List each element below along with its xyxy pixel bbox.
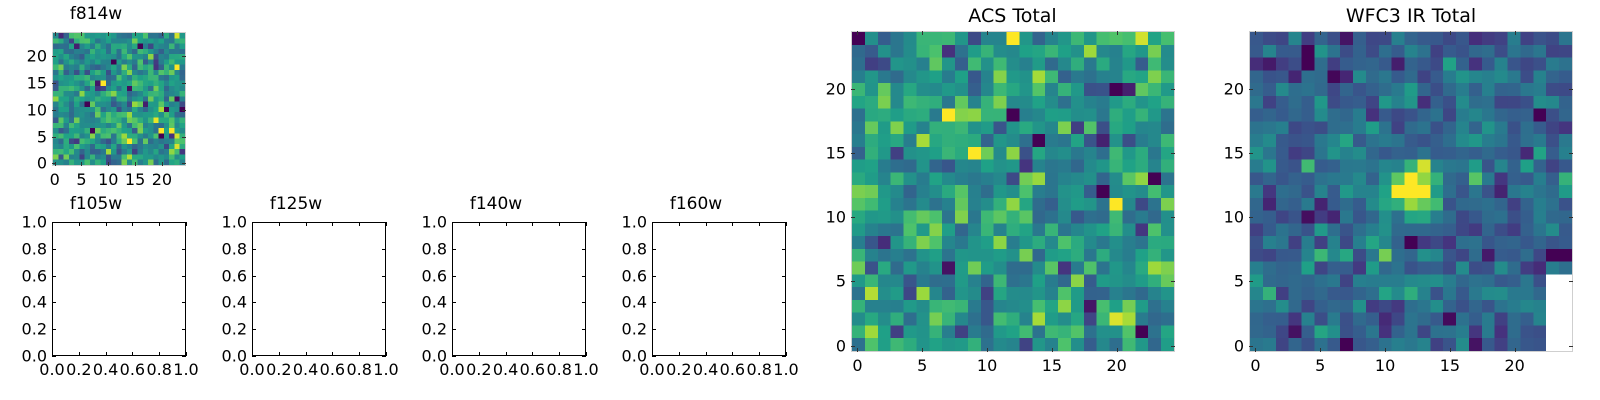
ytick-mark (182, 56, 186, 57)
xtick-label: 15 (1440, 356, 1460, 375)
xtick-mark (586, 352, 587, 356)
ytick-mark (52, 137, 56, 138)
xtick-mark (1515, 31, 1516, 35)
ytick-label: 0.6 (600, 266, 647, 285)
xtick-mark (1117, 31, 1118, 35)
ytick-mark (1249, 153, 1253, 154)
xtick-label: 0.4 (293, 360, 318, 379)
panel-f814w: f814w 05101520 05101520 (0, 0, 200, 190)
ytick-mark (851, 281, 855, 282)
ytick-label: 15 (1198, 143, 1244, 162)
xtick-mark (135, 32, 136, 36)
xtick-label: 10 (1375, 356, 1395, 375)
xtick-mark (1052, 348, 1053, 352)
ytick-label: 5 (800, 272, 846, 291)
xtick-mark (1515, 348, 1516, 352)
xtick-mark (679, 222, 680, 226)
ytick-mark (52, 302, 56, 303)
xtick-label: 0.2 (266, 360, 291, 379)
xtick-mark (55, 32, 56, 36)
ytick-label: 10 (800, 208, 846, 227)
xtick-mark (108, 162, 109, 166)
ytick-mark (52, 56, 56, 57)
ytick-mark (782, 302, 786, 303)
xtick-label: 0.4 (93, 360, 118, 379)
heatmap-wfc3-ir-total (1250, 32, 1572, 351)
ytick-mark (851, 346, 855, 347)
ytick-mark (1171, 89, 1175, 90)
xtick-mark (186, 222, 187, 226)
ytick-label: 10 (0, 100, 47, 119)
xtick-mark (586, 222, 587, 226)
xtick-mark (532, 352, 533, 356)
ytick-label: 0.6 (400, 266, 447, 285)
ytick-mark (582, 276, 586, 277)
xtick-mark (81, 162, 82, 166)
panel-f140w: f140w 0.00.20.40.60.81.0 0.00.20.40.60.8… (400, 190, 600, 400)
ytick-mark (382, 356, 386, 357)
ytick-mark (1171, 153, 1175, 154)
ytick-mark (452, 356, 456, 357)
xtick-mark (652, 222, 653, 226)
ytick-label: 0.2 (200, 320, 247, 339)
xtick-label: 0.2 (666, 360, 691, 379)
xtick-mark (359, 352, 360, 356)
xtick-label: 15 (1042, 356, 1062, 375)
xtick-label: 20 (1504, 356, 1524, 375)
axes-f140w[interactable] (452, 222, 586, 356)
ytick-label: 0 (0, 154, 47, 173)
xtick-mark (108, 32, 109, 36)
xtick-mark (759, 352, 760, 356)
xtick-mark (1385, 31, 1386, 35)
ytick-label: 0.8 (0, 239, 47, 258)
ytick-mark (252, 302, 256, 303)
xtick-mark (786, 222, 787, 226)
ytick-mark (182, 356, 186, 357)
ytick-mark (1569, 217, 1573, 218)
xtick-mark (1320, 348, 1321, 352)
ytick-mark (52, 276, 56, 277)
xtick-label: 10 (977, 356, 997, 375)
xtick-mark (706, 352, 707, 356)
xtick-mark (1450, 31, 1451, 35)
xtick-mark (386, 222, 387, 226)
ytick-mark (582, 249, 586, 250)
ytick-label: 15 (800, 143, 846, 162)
ytick-mark (182, 110, 186, 111)
xtick-mark (922, 348, 923, 352)
xtick-label: 0.8 (146, 360, 171, 379)
ytick-label: 0.4 (0, 293, 47, 312)
xtick-label: 0.6 (120, 360, 145, 379)
ytick-label: 0.6 (0, 266, 47, 285)
ytick-label: 0.8 (200, 239, 247, 258)
panel-acs-total: ACS Total 05101520 05101520 (800, 0, 1190, 400)
xtick-mark (79, 352, 80, 356)
ytick-mark (182, 137, 186, 138)
heatmap-f814w (53, 33, 185, 165)
xtick-label: 0.0 (239, 360, 264, 379)
ytick-mark (851, 89, 855, 90)
xtick-mark (679, 352, 680, 356)
ytick-mark (52, 83, 56, 84)
xtick-mark (332, 222, 333, 226)
ytick-label: 0.4 (200, 293, 247, 312)
ytick-mark (1249, 89, 1253, 90)
panel-title-acs-total: ACS Total (850, 5, 1175, 27)
ytick-mark (182, 276, 186, 277)
xtick-mark (922, 31, 923, 35)
xtick-mark (252, 222, 253, 226)
panel-title-f160w: f160w (596, 194, 796, 214)
xtick-mark (1117, 348, 1118, 352)
xtick-label: 1.0 (173, 360, 198, 379)
ytick-mark (1569, 346, 1573, 347)
heatmap-acs-total (852, 32, 1174, 351)
ytick-mark (452, 249, 456, 250)
ytick-mark (382, 276, 386, 277)
xtick-label: 0.0 (639, 360, 664, 379)
xtick-label: 20 (152, 170, 172, 189)
panel-title-f140w: f140w (396, 194, 596, 214)
ytick-mark (452, 302, 456, 303)
xtick-mark (55, 162, 56, 166)
ytick-mark (782, 249, 786, 250)
xtick-label: 0.8 (346, 360, 371, 379)
ytick-mark (652, 329, 656, 330)
xtick-mark (1450, 348, 1451, 352)
xtick-mark (306, 352, 307, 356)
xtick-mark (135, 162, 136, 166)
xtick-label: 0.8 (746, 360, 771, 379)
ytick-label: 0.8 (600, 239, 647, 258)
xtick-mark (159, 352, 160, 356)
ytick-mark (851, 153, 855, 154)
xtick-mark (857, 348, 858, 352)
xtick-mark (52, 222, 53, 226)
ytick-mark (652, 302, 656, 303)
ytick-label: 1.0 (0, 213, 47, 232)
ytick-label: 5 (0, 127, 47, 146)
xtick-label: 1.0 (773, 360, 798, 379)
xtick-label: 0 (1250, 356, 1260, 375)
xtick-mark (106, 352, 107, 356)
xtick-mark (1255, 31, 1256, 35)
xtick-mark (52, 352, 53, 356)
ytick-label: 15 (0, 73, 47, 92)
panel-wfc3-ir-total: WFC3 IR Total 05101520 05101520 (1198, 0, 1600, 400)
xtick-mark (506, 222, 507, 226)
axes-f125w[interactable] (252, 222, 386, 356)
ytick-mark (1569, 281, 1573, 282)
ytick-label: 20 (0, 47, 47, 66)
ytick-mark (182, 302, 186, 303)
xtick-label: 5 (1315, 356, 1325, 375)
xtick-label: 5 (76, 170, 86, 189)
xtick-label: 0.8 (546, 360, 571, 379)
ytick-mark (382, 249, 386, 250)
xtick-mark (162, 162, 163, 166)
ytick-label: 10 (1198, 208, 1244, 227)
panel-title-f105w: f105w (0, 194, 196, 214)
xtick-mark (452, 222, 453, 226)
ytick-mark (582, 329, 586, 330)
xtick-label: 0.6 (320, 360, 345, 379)
ytick-mark (182, 83, 186, 84)
xtick-mark (81, 32, 82, 36)
xtick-mark (359, 222, 360, 226)
ytick-mark (1249, 217, 1253, 218)
xtick-label: 0 (852, 356, 862, 375)
ytick-mark (52, 249, 56, 250)
ytick-mark (652, 356, 656, 357)
ytick-mark (1569, 153, 1573, 154)
ytick-mark (652, 276, 656, 277)
xtick-label: 0.6 (720, 360, 745, 379)
ytick-mark (252, 356, 256, 357)
xtick-label: 15 (125, 170, 145, 189)
panel-title-f125w: f125w (196, 194, 396, 214)
xtick-mark (79, 222, 80, 226)
ytick-mark (252, 276, 256, 277)
panel-title-f814w: f814w (0, 4, 196, 24)
ytick-mark (1171, 217, 1175, 218)
xtick-mark (279, 222, 280, 226)
xtick-mark (786, 352, 787, 356)
ytick-mark (652, 249, 656, 250)
axes-f105w[interactable] (52, 222, 186, 356)
xtick-mark (857, 31, 858, 35)
xtick-mark (186, 352, 187, 356)
panel-f105w: f105w 0.00.20.40.60.81.0 0.00.20.40.60.8… (0, 190, 200, 400)
axes-f160w[interactable] (652, 222, 786, 356)
ytick-mark (252, 329, 256, 330)
xtick-label: 0.0 (439, 360, 464, 379)
ytick-mark (782, 329, 786, 330)
xtick-mark (386, 352, 387, 356)
xtick-mark (332, 352, 333, 356)
xtick-label: 0.0 (39, 360, 64, 379)
xtick-mark (1385, 348, 1386, 352)
xtick-mark (506, 352, 507, 356)
ytick-label: 0.2 (400, 320, 447, 339)
axes-wfc3-ir-total[interactable] (1249, 31, 1573, 352)
panel-f160w: f160w 0.00.20.40.60.81.0 0.00.20.40.60.8… (600, 190, 800, 400)
ytick-label: 0.4 (400, 293, 447, 312)
xtick-mark (159, 222, 160, 226)
xtick-label: 20 (1106, 356, 1126, 375)
ytick-mark (1249, 346, 1253, 347)
ytick-mark (52, 110, 56, 111)
xtick-mark (106, 222, 107, 226)
ytick-mark (252, 249, 256, 250)
ytick-label: 20 (800, 79, 846, 98)
ytick-mark (782, 356, 786, 357)
ytick-label: 1.0 (200, 213, 247, 232)
xtick-mark (559, 352, 560, 356)
ytick-mark (582, 302, 586, 303)
xtick-mark (1320, 31, 1321, 35)
ytick-mark (1569, 89, 1573, 90)
xtick-label: 10 (98, 170, 118, 189)
xtick-mark (652, 352, 653, 356)
ytick-mark (182, 329, 186, 330)
ytick-label: 1.0 (600, 213, 647, 232)
xtick-mark (732, 352, 733, 356)
xtick-mark (706, 222, 707, 226)
xtick-mark (306, 222, 307, 226)
ytick-label: 0.2 (0, 320, 47, 339)
ytick-mark (1171, 281, 1175, 282)
xtick-label: 0 (50, 170, 60, 189)
ytick-mark (182, 163, 186, 164)
ytick-label: 0.6 (200, 266, 247, 285)
xtick-label: 0.4 (693, 360, 718, 379)
ytick-mark (582, 356, 586, 357)
xtick-label: 0.6 (520, 360, 545, 379)
panel-f125w: f125w 0.00.20.40.60.81.0 0.00.20.40.60.8… (200, 190, 400, 400)
xtick-label: 1.0 (573, 360, 598, 379)
xtick-mark (252, 352, 253, 356)
ytick-mark (782, 276, 786, 277)
ytick-mark (851, 217, 855, 218)
ytick-label: 0.4 (600, 293, 647, 312)
xtick-mark (132, 222, 133, 226)
ytick-label: 0.8 (400, 239, 447, 258)
ytick-mark (452, 276, 456, 277)
xtick-label: 5 (917, 356, 927, 375)
xtick-mark (1052, 31, 1053, 35)
xtick-mark (162, 32, 163, 36)
axes-acs-total[interactable] (851, 31, 1175, 352)
ytick-label: 20 (1198, 79, 1244, 98)
xtick-mark (732, 222, 733, 226)
xtick-mark (479, 352, 480, 356)
xtick-mark (132, 352, 133, 356)
xtick-label: 0.4 (493, 360, 518, 379)
xtick-mark (452, 352, 453, 356)
ytick-mark (52, 329, 56, 330)
ytick-mark (382, 329, 386, 330)
ytick-label: 0 (800, 336, 846, 355)
xtick-mark (759, 222, 760, 226)
panel-title-wfc3-ir-total: WFC3 IR Total (1249, 5, 1573, 27)
ytick-label: 0 (1198, 336, 1244, 355)
xtick-mark (559, 222, 560, 226)
ytick-mark (1249, 281, 1253, 282)
ytick-mark (382, 302, 386, 303)
xtick-label: 1.0 (373, 360, 398, 379)
xtick-mark (532, 222, 533, 226)
ytick-mark (1171, 346, 1175, 347)
axes-f814w[interactable] (52, 32, 186, 166)
ytick-mark (52, 356, 56, 357)
ytick-label: 1.0 (400, 213, 447, 232)
xtick-label: 0.2 (466, 360, 491, 379)
xtick-mark (279, 352, 280, 356)
ytick-mark (452, 329, 456, 330)
ytick-label: 5 (1198, 272, 1244, 291)
ytick-label: 0.2 (600, 320, 647, 339)
xtick-mark (987, 348, 988, 352)
xtick-mark (1255, 348, 1256, 352)
xtick-label: 0.2 (66, 360, 91, 379)
xtick-mark (479, 222, 480, 226)
ytick-mark (182, 249, 186, 250)
xtick-mark (987, 31, 988, 35)
